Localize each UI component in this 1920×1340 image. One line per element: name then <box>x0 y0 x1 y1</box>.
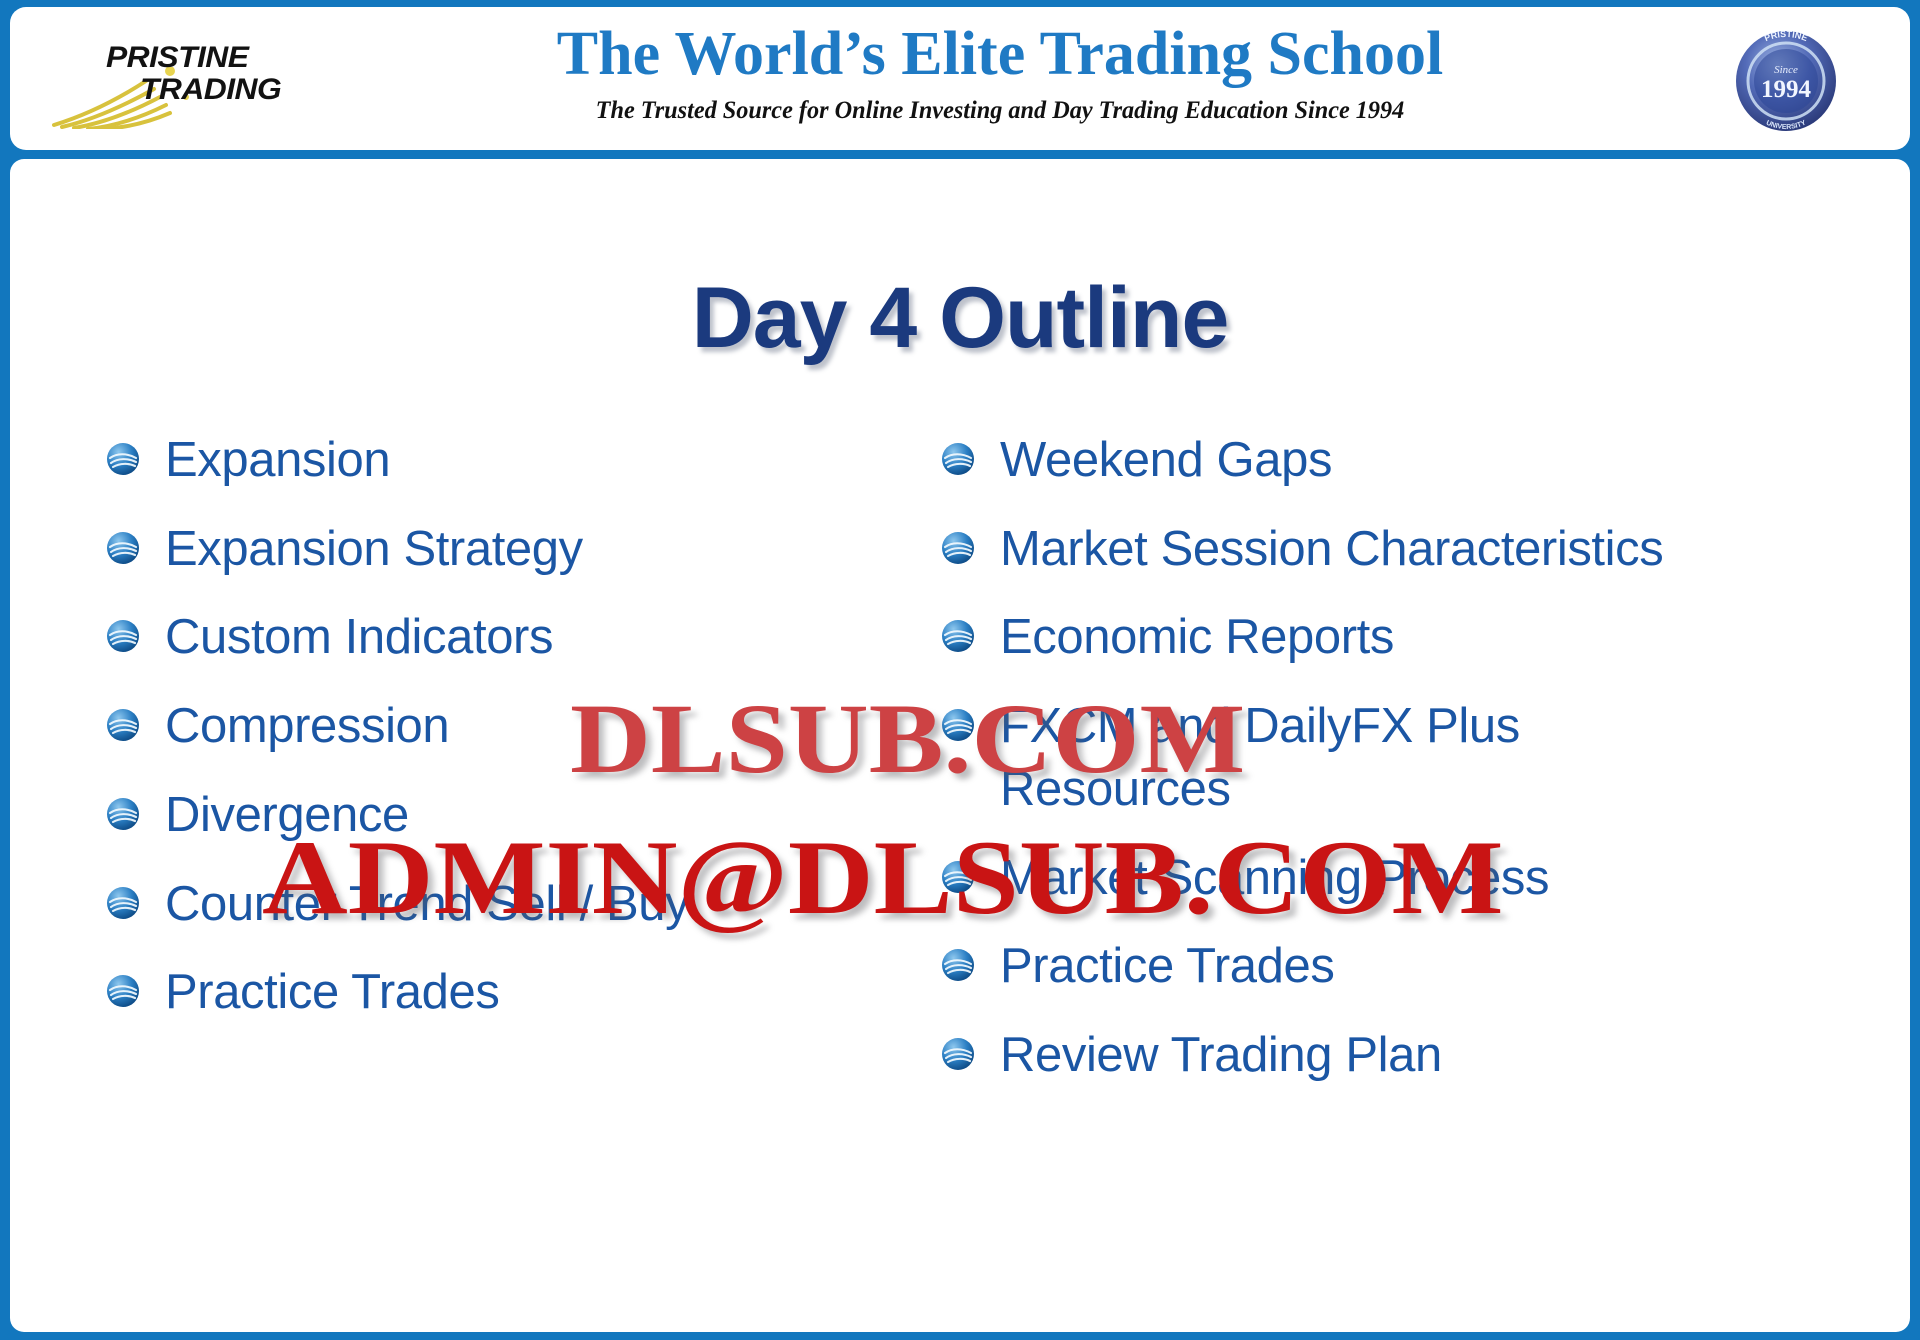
list-item[interactable]: Economic Reports <box>940 606 1680 669</box>
watermark-site-text: DLSUB.COM <box>570 683 1245 794</box>
pristine-sphere-bullet-icon <box>940 1036 976 1072</box>
list-item-label: Compression <box>165 695 449 758</box>
pristine-trading-wordmark: PRISTINE TRADING <box>98 39 334 121</box>
list-item[interactable]: Market Session Characteristics <box>940 518 1680 581</box>
list-item-label: Market Session Characteristics <box>1000 518 1663 581</box>
header-subtitle: The Trusted Source for Online Investing … <box>350 97 1650 125</box>
pristine-trading-logo: PRISTINE TRADING <box>50 29 330 129</box>
pristine-sphere-bullet-icon <box>105 441 141 477</box>
logo-line-pristine: PRISTINE <box>106 41 248 75</box>
list-item-label: Economic Reports <box>1000 606 1394 669</box>
list-item[interactable]: Weekend Gaps <box>940 429 1680 492</box>
list-item[interactable]: Custom Indicators <box>105 606 765 669</box>
list-item[interactable]: Practice Trades <box>940 935 1680 998</box>
header-title-block: The World’s Elite Trading School The Tru… <box>330 23 1670 125</box>
pristine-sphere-bullet-icon <box>940 618 976 654</box>
pristine-sphere-bullet-icon <box>105 530 141 566</box>
slide-title: Day 4 Outline <box>10 275 1910 361</box>
pristine-sphere-bullet-icon <box>105 973 141 1009</box>
pristine-sphere-bullet-icon <box>940 441 976 477</box>
pristine-sphere-bullet-icon <box>105 796 141 832</box>
seal-year: 1994 <box>1761 76 1812 103</box>
list-item-label: Review Trading Plan <box>1000 1024 1442 1087</box>
list-item-label: Custom Indicators <box>165 606 553 669</box>
pristine-sphere-bullet-icon <box>940 530 976 566</box>
logo-line-trading: TRADING <box>140 73 281 107</box>
pristine-sphere-bullet-icon <box>105 885 141 921</box>
list-item[interactable]: Practice Trades <box>105 961 765 1024</box>
seal-since-label: Since <box>1774 64 1798 76</box>
slide-frame: PRISTINE TRADING The World’s Elite Tradi… <box>0 0 1920 1340</box>
header-title: The World’s Elite Trading School <box>330 23 1670 85</box>
watermark-email: ADMIN@DLSUB.COM <box>262 817 1504 939</box>
list-item-label: Practice Trades <box>1000 935 1334 998</box>
list-item-label: Expansion <box>165 429 390 492</box>
list-item-label: Expansion Strategy <box>165 518 583 581</box>
watermark-site: DLSUB.COM <box>570 681 1245 796</box>
watermark-email-text: ADMIN@DLSUB.COM <box>262 819 1504 936</box>
list-item-label: Practice Trades <box>165 961 499 1024</box>
slide-body: Day 4 Outline <box>10 159 1910 1332</box>
list-item[interactable]: Expansion Strategy <box>105 518 765 581</box>
pristine-sphere-bullet-icon <box>105 707 141 743</box>
pristine-university-seal: PRISTINE UNIVERSITY Since 1994 <box>1722 15 1850 143</box>
slide-header: PRISTINE TRADING The World’s Elite Tradi… <box>10 7 1910 150</box>
pristine-sphere-bullet-icon <box>940 947 976 983</box>
list-item-label: Weekend Gaps <box>1000 429 1332 492</box>
pristine-sphere-bullet-icon <box>105 618 141 654</box>
list-item[interactable]: Expansion <box>105 429 765 492</box>
list-item[interactable]: Review Trading Plan <box>940 1024 1680 1087</box>
